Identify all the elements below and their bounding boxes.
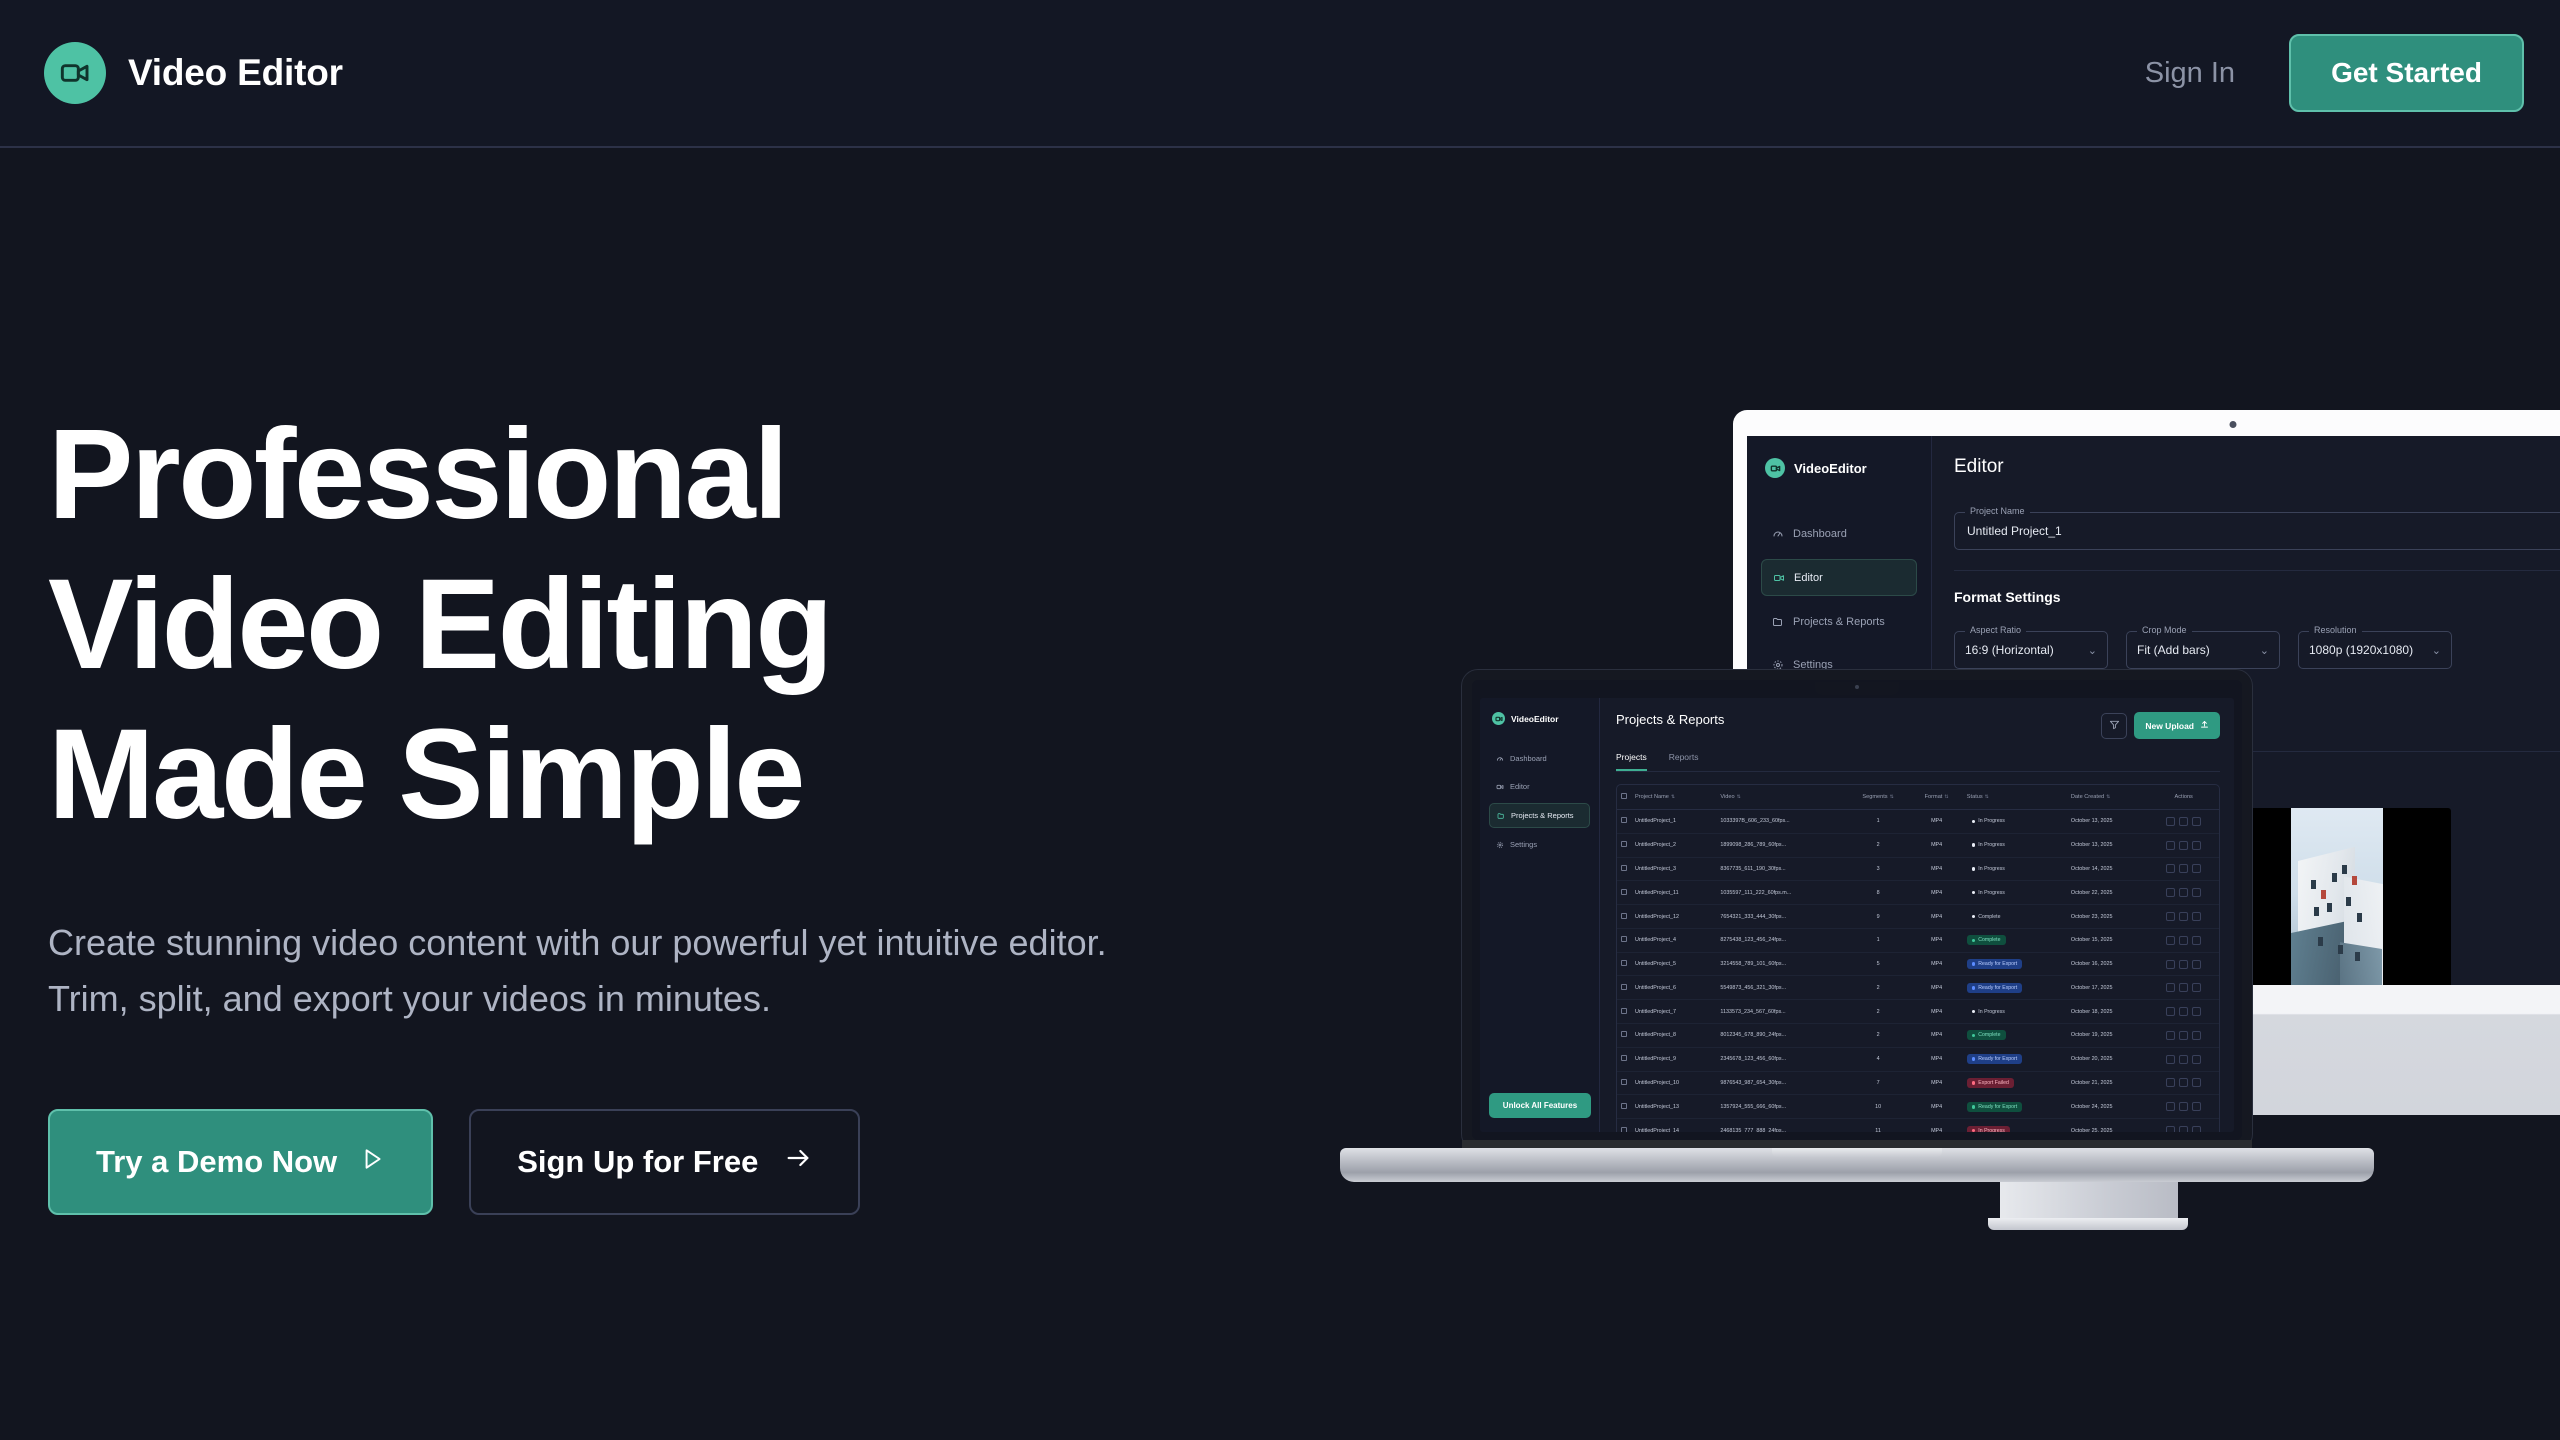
row-checkbox[interactable] [1617, 952, 1631, 976]
brand-logo[interactable]: Video Editor [44, 42, 343, 104]
sidebar-item-editor[interactable]: Editor [1489, 775, 1590, 798]
row-checkbox[interactable] [1617, 1095, 1631, 1119]
cell-project-name: UntitledProject_13 [1631, 1095, 1716, 1119]
projects-top-actions: New Upload [2101, 712, 2220, 739]
checkbox-icon[interactable] [1621, 793, 1627, 799]
sidebar-item-dashboard[interactable]: Dashboard [1761, 516, 1917, 551]
cell-status: Complete [1963, 1024, 2067, 1048]
cell-format: MP4 [1910, 905, 1962, 929]
row-checkbox[interactable] [1617, 857, 1631, 881]
column-label: Format [1925, 794, 1943, 800]
sort-icon[interactable]: ⇅ [1737, 794, 1741, 800]
arrow-right-icon [784, 1144, 812, 1180]
projects-sidebar-brand-label: VideoEditor [1511, 714, 1559, 724]
sidebar-item-editor[interactable]: Editor [1761, 559, 1917, 596]
delete-icon[interactable] [2192, 1102, 2201, 1111]
cell-project-name: UntitledProject_8 [1631, 1024, 1716, 1048]
status-badge: Complete [1967, 1030, 2006, 1040]
cell-segments: 10 [1846, 1095, 1911, 1119]
cell-format: MP4 [1910, 976, 1962, 1000]
table-body: UntitledProject_11033397B_606_233_60fps.… [1617, 810, 2219, 1133]
cell-date-created: October 13, 2025 [2067, 810, 2149, 834]
cell-format: MP4 [1910, 857, 1962, 881]
cell-actions[interactable] [2148, 857, 2219, 881]
hero-subtitle: Create stunning video content with our p… [48, 915, 1118, 1027]
divider [1954, 570, 2560, 571]
cell-actions[interactable] [2148, 928, 2219, 952]
cell-segments: 5 [1846, 952, 1911, 976]
sort-icon[interactable]: ⇅ [1944, 794, 1948, 800]
status-badge: Complete [1967, 935, 2006, 945]
cell-date-created: October 17, 2025 [2067, 976, 2149, 1000]
column-label: Actions [2175, 794, 2193, 800]
export-icon[interactable] [2179, 1126, 2188, 1132]
aspect-ratio-select[interactable]: Aspect Ratio 16:9 (Horizontal) ⌄ [1954, 631, 2108, 669]
folder-icon [1496, 811, 1505, 820]
column-header-video[interactable]: Video⇅ [1716, 785, 1845, 810]
unlock-all-features-button[interactable]: Unlock All Features [1489, 1093, 1591, 1118]
page-title: Professional Video Editing Made Simple [48, 400, 1228, 849]
projects-main: Projects & Reports New Upload [1600, 698, 2234, 1132]
column-header-segments[interactable]: Segments⇅ [1846, 785, 1911, 810]
status-badge: Ready for Export [1967, 983, 2022, 993]
cell-format: MP4 [1910, 833, 1962, 857]
sign-up-free-button[interactable]: Sign Up for Free [469, 1109, 860, 1215]
cell-status: Ready for Export [1963, 952, 2067, 976]
new-upload-button[interactable]: New Upload [2134, 712, 2220, 739]
cell-segments: 4 [1846, 1047, 1911, 1071]
status-badge: Complete [1967, 912, 2006, 922]
edit-icon[interactable] [2166, 1031, 2175, 1040]
export-icon[interactable] [2179, 1007, 2188, 1016]
row-checkbox[interactable] [1617, 905, 1631, 929]
row-checkbox[interactable] [1617, 1047, 1631, 1071]
delete-icon[interactable] [2192, 983, 2201, 992]
resolution-select[interactable]: Resolution 1080p (1920x1080) ⌄ [2298, 631, 2452, 669]
cell-video: 8275438_123_456_24fps... [1716, 928, 1845, 952]
cell-segments: 1 [1846, 928, 1911, 952]
cell-segments: 7 [1846, 1071, 1911, 1095]
export-icon[interactable] [2179, 1031, 2188, 1040]
aspect-ratio-value: 16:9 (Horizontal) [1965, 643, 2054, 657]
cell-video: 8012345_678_890_24fps... [1716, 1024, 1845, 1048]
cell-status: Ready for Export [1963, 1047, 2067, 1071]
hero-section: Professional Video Editing Made Simple C… [48, 400, 1228, 1215]
cell-project-name: UntitledProject_3 [1631, 857, 1716, 881]
cell-format: MP4 [1910, 952, 1962, 976]
crop-mode-value: Fit (Add bars) [2137, 643, 2210, 657]
chevron-down-icon: ⌄ [2260, 644, 2269, 657]
projects-tabs: Projects Reports [1616, 752, 2220, 772]
sidebar-item-dashboard[interactable]: Dashboard [1489, 747, 1590, 770]
building-shape [2340, 942, 2382, 985]
new-upload-label: New Upload [2145, 721, 2194, 731]
cell-actions[interactable] [2148, 881, 2219, 905]
video-camera-icon [44, 42, 106, 104]
cell-project-name: UntitledProject_5 [1631, 952, 1716, 976]
cell-status: Export Failed [1963, 1071, 2067, 1095]
cell-format: MP4 [1910, 810, 1962, 834]
cell-video: 1033397B_606_233_60fps... [1716, 810, 1845, 834]
format-settings-title: Format Settings [1954, 589, 2560, 605]
cell-date-created: October 18, 2025 [2067, 1000, 2149, 1024]
cell-project-name: UntitledProject_6 [1631, 976, 1716, 1000]
sign-up-free-label: Sign Up for Free [517, 1144, 758, 1180]
cell-date-created: October 20, 2025 [2067, 1047, 2149, 1071]
cell-format: MP4 [1910, 1024, 1962, 1048]
row-checkbox[interactable] [1617, 1119, 1631, 1132]
cell-format: MP4 [1910, 928, 1962, 952]
cell-video: 3214558_789_101_60fps... [1716, 952, 1845, 976]
sidebar-item-label: Settings [1793, 659, 1833, 671]
sign-in-link[interactable]: Sign In [2145, 57, 2235, 90]
cell-date-created: October 22, 2025 [2067, 881, 2149, 905]
table-row[interactable]: UntitledProject_109876543_987_654_30fps.… [1617, 1071, 2219, 1095]
cell-video: 1035597_111_222_60fps.m... [1716, 881, 1845, 905]
editor-page-title: Editor [1954, 456, 2004, 478]
try-demo-button[interactable]: Try a Demo Now [48, 1109, 433, 1215]
laptop-mockup: VideoEditor Dashboard Edi [1340, 670, 2130, 1210]
video-camera-icon [1492, 712, 1505, 725]
chevron-down-icon: ⌄ [2432, 644, 2441, 657]
edit-icon[interactable] [2166, 1078, 2175, 1087]
landing-page: Video Editor Sign In Get Started Profess… [0, 0, 2560, 1440]
cell-project-name: UntitledProject_4 [1631, 928, 1716, 952]
row-checkbox[interactable] [1617, 1024, 1631, 1048]
play-triangle-icon [359, 1144, 385, 1180]
filter-button[interactable] [2101, 713, 2127, 739]
table-row[interactable]: UntitledProject_65549873_456_321_30fps..… [1617, 976, 2219, 1000]
cell-date-created: October 23, 2025 [2067, 905, 2149, 929]
try-demo-label: Try a Demo Now [96, 1144, 337, 1180]
cell-status: Ready for Export [1963, 1095, 2067, 1119]
cell-actions[interactable] [2148, 905, 2219, 929]
laptop-base [1340, 1148, 2374, 1182]
projects-topbar: Projects & Reports New Upload [1616, 712, 2220, 739]
cell-status: Complete [1963, 905, 2067, 929]
chevron-down-icon: ⌄ [2088, 644, 2097, 657]
cell-video: 8367735_611_190_30fps... [1716, 857, 1845, 881]
export-icon[interactable] [2179, 983, 2188, 992]
projects-table-wrapper: Project Name⇅ Video⇅ Segments⇅ Format⇅ S… [1616, 784, 2220, 1132]
export-icon[interactable] [2179, 841, 2188, 850]
cell-actions[interactable] [2148, 810, 2219, 834]
hero-cta-group: Try a Demo Now Sign Up for Free [48, 1109, 1228, 1215]
table-row[interactable]: UntitledProject_111035597_111_222_60fps.… [1617, 881, 2219, 905]
table-row[interactable]: UntitledProject_127654321_333_444_30fps.… [1617, 905, 2219, 929]
get-started-button[interactable]: Get Started [2289, 34, 2524, 112]
edit-icon[interactable] [2166, 936, 2175, 945]
aspect-ratio-label: Aspect Ratio [1965, 625, 2026, 635]
table-row[interactable]: UntitledProject_71133573_234_567_60fps..… [1617, 1000, 2219, 1024]
hero-title-line-1: Professional [48, 400, 1228, 550]
cell-actions[interactable] [2148, 1119, 2219, 1132]
edit-icon[interactable] [2166, 983, 2175, 992]
sidebar-item-label: Projects & Reports [1793, 616, 1885, 628]
status-badge: Export Failed [1967, 1078, 2014, 1088]
column-label: Segments [1862, 794, 1887, 800]
filter-funnel-icon [2109, 718, 2120, 733]
cell-video: 9876543_987_654_30fps... [1716, 1071, 1845, 1095]
table-row[interactable]: UntitledProject_38367735_611_190_30fps..… [1617, 857, 2219, 881]
video-preview-frame [2291, 808, 2383, 985]
upload-icon [2200, 720, 2209, 731]
cell-actions[interactable] [2148, 1000, 2219, 1024]
status-badge: In Progress [1967, 840, 2010, 850]
editor-topbar: Editor Save Exp [1954, 456, 2560, 490]
hero-title-line-3: Made Simple [48, 700, 1228, 850]
sort-icon[interactable]: ⇅ [1671, 794, 1675, 800]
cell-actions[interactable] [2148, 1071, 2219, 1095]
format-settings-row-1: Aspect Ratio 16:9 (Horizontal) ⌄ Crop Mo… [1954, 609, 2560, 669]
export-icon[interactable] [2179, 888, 2188, 897]
table-row[interactable]: UntitledProject_88012345_678_890_24fps..… [1617, 1024, 2219, 1048]
cell-date-created: October 13, 2025 [2067, 833, 2149, 857]
building-shape [2291, 922, 2344, 985]
column-header-select-all[interactable] [1617, 785, 1631, 810]
projects-sidebar: VideoEditor Dashboard Edi [1480, 698, 1600, 1132]
row-checkbox[interactable] [1617, 976, 1631, 1000]
product-mockups: VideoEditor Dashboard Edi [1340, 380, 2560, 1220]
cell-status: In Progress [1963, 833, 2067, 857]
column-header-format[interactable]: Format⇅ [1910, 785, 1962, 810]
laptop-camera-icon [1855, 685, 1859, 689]
video-camera-icon [1495, 782, 1504, 791]
export-icon[interactable] [2179, 1078, 2188, 1087]
export-icon[interactable] [2179, 960, 2188, 969]
cell-segments: 9 [1846, 905, 1911, 929]
edit-icon[interactable] [2166, 817, 2175, 826]
delete-icon[interactable] [2192, 888, 2201, 897]
video-preview-player[interactable] [2223, 808, 2451, 985]
edit-icon[interactable] [2166, 888, 2175, 897]
video-camera-icon [1772, 571, 1785, 584]
monitor-stand-foot [1988, 1218, 2188, 1230]
cell-video: 1133573_234_567_60fps... [1716, 1000, 1845, 1024]
cell-project-name: UntitledProject_12 [1631, 905, 1716, 929]
gear-icon [1495, 840, 1504, 849]
table-row[interactable]: UntitledProject_48275438_123_456_24fps..… [1617, 928, 2219, 952]
crop-mode-select[interactable]: Crop Mode Fit (Add bars) ⌄ [2126, 631, 2280, 669]
sidebar-item-label: Dashboard [1793, 528, 1847, 540]
cell-project-name: UntitledProject_7 [1631, 1000, 1716, 1024]
cell-status: In Progress [1963, 857, 2067, 881]
cell-segments: 2 [1846, 833, 1911, 857]
cell-date-created: October 16, 2025 [2067, 952, 2149, 976]
export-icon[interactable] [2179, 1055, 2188, 1064]
cell-actions[interactable] [2148, 976, 2219, 1000]
sort-icon[interactable]: ⇅ [1985, 794, 1989, 800]
column-label: Date Created [2071, 794, 2104, 800]
cell-segments: 2 [1846, 1000, 1911, 1024]
edit-icon[interactable] [2166, 864, 2175, 873]
delete-icon[interactable] [2192, 817, 2201, 826]
export-icon[interactable] [2179, 936, 2188, 945]
edit-icon[interactable] [2166, 1007, 2175, 1016]
status-badge: Ready for Export [1967, 959, 2022, 969]
delete-icon[interactable] [2192, 841, 2201, 850]
cell-project-name: UntitledProject_14 [1631, 1119, 1716, 1132]
cell-segments: 11 [1846, 1119, 1911, 1132]
cell-actions[interactable] [2148, 1024, 2219, 1048]
cell-video: 1899098_286_789_60fps... [1716, 833, 1845, 857]
projects-table: Project Name⇅ Video⇅ Segments⇅ Format⇅ S… [1617, 785, 2219, 1132]
delete-icon[interactable] [2192, 864, 2201, 873]
editor-sidebar-brand-label: VideoEditor [1794, 461, 1867, 476]
cell-date-created: October 19, 2025 [2067, 1024, 2149, 1048]
cell-format: MP4 [1910, 1047, 1962, 1071]
project-name-field[interactable]: Project Name Untitled Project_1 [1954, 512, 2560, 550]
column-header-date-created[interactable]: Date Created⇅ [2067, 785, 2149, 810]
cell-actions[interactable] [2148, 952, 2219, 976]
cell-format: MP4 [1910, 1000, 1962, 1024]
export-icon[interactable] [2179, 1102, 2188, 1111]
column-header-status[interactable]: Status⇅ [1963, 785, 2067, 810]
sort-icon[interactable]: ⇅ [1890, 794, 1894, 800]
cell-date-created: October 21, 2025 [2067, 1071, 2149, 1095]
tab-projects[interactable]: Projects [1616, 752, 1647, 771]
edit-icon[interactable] [2166, 1055, 2175, 1064]
cell-video: 5549873_456_321_30fps... [1716, 976, 1845, 1000]
hero-title-line-2: Video Editing [48, 550, 1228, 700]
status-badge: In Progress [1967, 1126, 2010, 1132]
export-icon[interactable] [2179, 817, 2188, 826]
delete-icon[interactable] [2192, 1078, 2201, 1087]
export-icon[interactable] [2179, 912, 2188, 921]
row-checkbox[interactable] [1617, 928, 1631, 952]
cell-date-created: October 14, 2025 [2067, 857, 2149, 881]
cell-status: Complete [1963, 928, 2067, 952]
cell-video: 2345678_123_456_60fps... [1716, 1047, 1845, 1071]
header-actions: Sign In Get Started [2145, 34, 2524, 112]
edit-icon[interactable] [2166, 912, 2175, 921]
cell-actions[interactable] [2148, 1047, 2219, 1071]
cell-status: In Progress [1963, 1119, 2067, 1132]
column-label: Status [1967, 794, 1983, 800]
sidebar-item-label: Dashboard [1510, 754, 1547, 763]
gauge-icon [1495, 754, 1504, 763]
sort-icon[interactable]: ⇅ [2106, 794, 2110, 800]
cell-format: MP4 [1910, 1119, 1962, 1132]
status-badge: In Progress [1967, 888, 2010, 898]
cell-project-name: UntitledProject_2 [1631, 833, 1716, 857]
delete-icon[interactable] [2192, 936, 2201, 945]
project-name-label: Project Name [1965, 506, 2030, 516]
sidebar-item-label: Settings [1510, 840, 1537, 849]
resolution-value: 1080p (1920x1080) [2309, 643, 2413, 657]
site-header: Video Editor Sign In Get Started [0, 0, 2560, 148]
cell-date-created: October 25, 2025 [2067, 1119, 2149, 1132]
monitor-camera-icon [2230, 421, 2237, 428]
column-label: Video [1720, 794, 1734, 800]
sidebar-item-label: Editor [1510, 782, 1530, 791]
delete-icon[interactable] [2192, 1126, 2201, 1132]
cell-segments: 3 [1846, 857, 1911, 881]
sidebar-item-settings[interactable]: Settings [1489, 833, 1590, 856]
cell-segments: 1 [1846, 810, 1911, 834]
cell-status: In Progress [1963, 1000, 2067, 1024]
cell-project-name: UntitledProject_10 [1631, 1071, 1716, 1095]
tab-reports[interactable]: Reports [1669, 752, 1699, 771]
sidebar-item-label: Editor [1794, 572, 1823, 584]
project-name-value: Untitled Project_1 [1967, 524, 2062, 538]
row-checkbox[interactable] [1617, 881, 1631, 905]
table-row[interactable]: UntitledProject_11033397B_606_233_60fps.… [1617, 810, 2219, 834]
export-icon[interactable] [2179, 864, 2188, 873]
edit-icon[interactable] [2166, 841, 2175, 850]
cell-date-created: October 15, 2025 [2067, 928, 2149, 952]
laptop-trackpad-notch [1772, 1148, 1942, 1157]
cell-segments: 2 [1846, 976, 1911, 1000]
editor-sidebar-brand: VideoEditor [1761, 458, 1917, 478]
row-checkbox[interactable] [1617, 1071, 1631, 1095]
brand-name: Video Editor [128, 52, 343, 94]
edit-icon[interactable] [2166, 1102, 2175, 1111]
laptop-lid: VideoEditor Dashboard Edi [1462, 670, 2252, 1150]
column-header-project-name[interactable]: Project Name⇅ [1631, 785, 1716, 810]
sidebar-item-label: Projects & Reports [1511, 811, 1574, 820]
edit-icon[interactable] [2166, 960, 2175, 969]
row-checkbox[interactable] [1617, 833, 1631, 857]
cell-date-created: October 24, 2025 [2067, 1095, 2149, 1119]
cell-video: 1357924_555_666_60fps... [1716, 1095, 1845, 1119]
column-header-actions: Actions [2148, 785, 2219, 810]
cell-actions[interactable] [2148, 1095, 2219, 1119]
sidebar-item-projects-reports[interactable]: Projects & Reports [1761, 604, 1917, 639]
status-badge: Ready for Export [1967, 1054, 2022, 1064]
delete-icon[interactable] [2192, 1007, 2201, 1016]
projects-page-title: Projects & Reports [1616, 712, 1724, 727]
table-row[interactable]: UntitledProject_92345678_123_456_60fps..… [1617, 1047, 2219, 1071]
cell-video: 7654321_333_444_30fps... [1716, 905, 1845, 929]
projects-sidebar-brand: VideoEditor [1489, 712, 1590, 725]
cell-format: MP4 [1910, 881, 1962, 905]
table-row[interactable]: UntitledProject_21899098_286_789_60fps..… [1617, 833, 2219, 857]
delete-icon[interactable] [2192, 1055, 2201, 1064]
cell-format: MP4 [1910, 1095, 1962, 1119]
cell-project-name: UntitledProject_1 [1631, 810, 1716, 834]
row-checkbox[interactable] [1617, 810, 1631, 834]
edit-icon[interactable] [2166, 1126, 2175, 1132]
cell-segments: 8 [1846, 881, 1911, 905]
gauge-icon [1771, 527, 1784, 540]
laptop-screen: VideoEditor Dashboard Edi [1480, 698, 2234, 1132]
cell-project-name: UntitledProject_9 [1631, 1047, 1716, 1071]
cell-status: In Progress [1963, 881, 2067, 905]
folder-icon [1771, 615, 1784, 628]
table-head: Project Name⇅ Video⇅ Segments⇅ Format⇅ S… [1617, 785, 2219, 810]
delete-icon[interactable] [2192, 960, 2201, 969]
sidebar-item-projects-reports[interactable]: Projects & Reports [1489, 803, 1590, 828]
table-row[interactable]: UntitledProject_142468135_777_888_24fps.… [1617, 1119, 2219, 1132]
cell-status: In Progress [1963, 810, 2067, 834]
cell-status: Ready for Export [1963, 976, 2067, 1000]
column-label: Project Name [1635, 794, 1669, 800]
cell-project-name: UntitledProject_11 [1631, 881, 1716, 905]
table-row[interactable]: UntitledProject_131357924_555_666_60fps.… [1617, 1095, 2219, 1119]
delete-icon[interactable] [2192, 912, 2201, 921]
cell-actions[interactable] [2148, 833, 2219, 857]
status-badge: Ready for Export [1967, 1102, 2022, 1112]
video-camera-icon [1765, 458, 1785, 478]
table-row[interactable]: UntitledProject_53214558_789_101_60fps..… [1617, 952, 2219, 976]
delete-icon[interactable] [2192, 1031, 2201, 1040]
cell-format: MP4 [1910, 1071, 1962, 1095]
status-badge: In Progress [1967, 816, 2010, 826]
crop-mode-label: Crop Mode [2137, 625, 2192, 635]
row-checkbox[interactable] [1617, 1000, 1631, 1024]
cell-video: 2468135_777_888_24fps... [1716, 1119, 1845, 1132]
